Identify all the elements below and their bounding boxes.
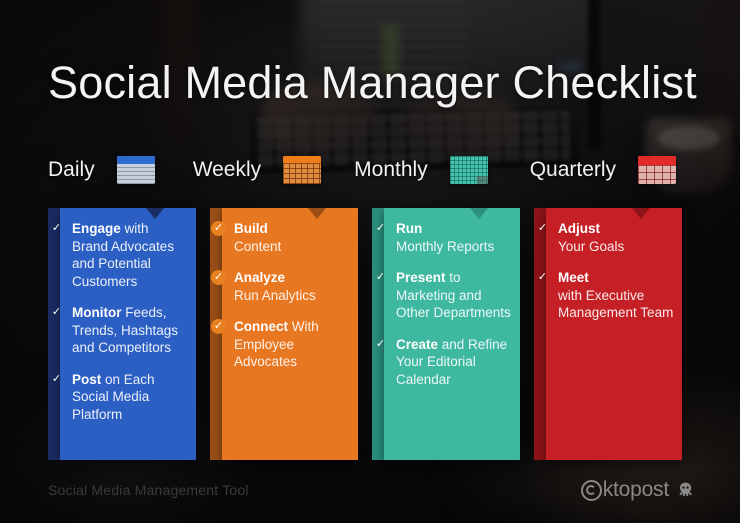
checklist-item-title: Adjust: [558, 220, 676, 238]
checklist-item-title-rest: Feeds,: [122, 305, 167, 320]
column-strip-quarterly: [534, 208, 546, 460]
logo-wordmark: ktopost: [581, 478, 669, 502]
check-icon: ✓: [211, 319, 226, 334]
checklist-item[interactable]: ✓BuildContent: [234, 220, 352, 255]
checklist-item-keyword: Run: [396, 221, 422, 236]
column-notch-weekly: [308, 208, 326, 219]
check-icon: ✓: [211, 270, 226, 285]
checklist-item-keyword: Post: [72, 372, 101, 387]
calendar-quarterly-icon: [638, 156, 676, 184]
checklist-column-weekly: ✓BuildContent✓AnalyzeRun Analytics✓Conne…: [210, 208, 358, 460]
column-body-daily: ✓Engage withBrand Advocates and Potentia…: [60, 208, 196, 460]
column-notch-monthly: [470, 208, 488, 219]
checklist-item-keyword: Connect: [234, 319, 288, 334]
column-items-monthly: ✓RunMonthly Reports✓Present toMarketing …: [396, 220, 514, 402]
checklist-item[interactable]: ✓Meetwith Executive Management Team: [558, 269, 676, 322]
legend-item-monthly: Monthly: [354, 156, 488, 184]
oktopost-logo[interactable]: ktopost: [581, 478, 695, 502]
checklist-item-keyword: Meet: [558, 270, 589, 285]
checklist-item[interactable]: ✓Monitor Feeds,Trends, Hashtags and Comp…: [72, 304, 190, 357]
frequency-legend: DailyWeeklyMonthlyQuarterly: [48, 152, 676, 188]
checklist-item-title: Analyze: [234, 269, 352, 287]
checklist-item-title: Engage with: [72, 220, 190, 238]
column-items-weekly: ✓BuildContent✓AnalyzeRun Analytics✓Conne…: [234, 220, 352, 385]
logo-spiral-o-icon: [581, 480, 602, 501]
legend-item-weekly: Weekly: [193, 156, 321, 184]
checklist-item-title-rest: with: [121, 221, 149, 236]
footer-tagline: Social Media Management Tool: [48, 482, 249, 498]
checklist-item-detail: with Executive Management Team: [558, 287, 676, 322]
calendar-daily-icon: [117, 156, 155, 184]
legend-item-quarterly: Quarterly: [530, 156, 676, 184]
checklist-item-detail: Marketing and Other Departments: [396, 287, 514, 322]
calendar-monthly-icon: [450, 156, 488, 184]
check-icon: ✓: [49, 221, 64, 236]
checklist-item-title-rest: and Refine: [438, 337, 507, 352]
checklist-item-title: Meet: [558, 269, 676, 287]
checklist-item[interactable]: ✓AnalyzeRun Analytics: [234, 269, 352, 304]
check-icon: ✓: [535, 221, 550, 236]
column-strip-monthly: [372, 208, 384, 460]
checklist-item[interactable]: ✓RunMonthly Reports: [396, 220, 514, 255]
checklist-item[interactable]: ✓Engage withBrand Advocates and Potentia…: [72, 220, 190, 290]
checklist-column-daily: ✓Engage withBrand Advocates and Potentia…: [48, 208, 196, 460]
column-body-monthly: ✓RunMonthly Reports✓Present toMarketing …: [384, 208, 520, 460]
check-icon: ✓: [373, 337, 388, 352]
check-icon: ✓: [373, 221, 388, 236]
column-items-daily: ✓Engage withBrand Advocates and Potentia…: [72, 220, 190, 437]
column-items-quarterly: ✓AdjustYour Goals✓Meetwith Executive Man…: [558, 220, 676, 336]
check-icon: ✓: [535, 270, 550, 285]
column-body-quarterly: ✓AdjustYour Goals✓Meetwith Executive Man…: [546, 208, 682, 460]
column-strip-weekly: [210, 208, 222, 460]
checklist-item-title: Run: [396, 220, 514, 238]
checklist-item[interactable]: ✓Create and RefineYour Editorial Calenda…: [396, 336, 514, 389]
column-strip-daily: [48, 208, 60, 460]
check-icon: ✓: [49, 305, 64, 320]
checklist-item-keyword: Present: [396, 270, 446, 285]
checklist-item-detail: Employee Advocates: [234, 336, 352, 371]
legend-label-quarterly: Quarterly: [530, 158, 616, 182]
checklist-item-title: Connect With: [234, 318, 352, 336]
checklist-item-detail: Brand Advocates and Potential Customers: [72, 238, 190, 291]
checklist-column-quarterly: ✓AdjustYour Goals✓Meetwith Executive Man…: [534, 208, 682, 460]
checklist-item-detail: Monthly Reports: [396, 238, 514, 256]
checklist-item-keyword: Create: [396, 337, 438, 352]
column-notch-daily: [146, 208, 164, 219]
checklist-item-title: Present to: [396, 269, 514, 287]
check-icon: ✓: [49, 372, 64, 387]
checklist-item-title: Post on Each: [72, 371, 190, 389]
legend-label-monthly: Monthly: [354, 158, 428, 182]
checklist-item-detail: Your Editorial Calendar: [396, 353, 514, 388]
checklist-item-detail: Social Media Platform: [72, 388, 190, 423]
legend-label-daily: Daily: [48, 158, 95, 182]
checklist-item-title: Build: [234, 220, 352, 238]
checklist-item-keyword: Monitor: [72, 305, 122, 320]
checklist-item-title-rest: on Each: [101, 372, 154, 387]
column-body-weekly: ✓BuildContent✓AnalyzeRun Analytics✓Conne…: [222, 208, 358, 460]
infographic-canvas: Social Media Manager Checklist DailyWeek…: [0, 0, 740, 523]
checklist-item-title-rest: With: [288, 319, 319, 334]
checklist-item[interactable]: ✓AdjustYour Goals: [558, 220, 676, 255]
legend-item-daily: Daily: [48, 156, 155, 184]
checklist-item[interactable]: ✓Present toMarketing and Other Departmen…: [396, 269, 514, 322]
legend-label-weekly: Weekly: [193, 158, 261, 182]
checklist-item-keyword: Analyze: [234, 270, 285, 285]
checklist-item-detail: Content: [234, 238, 352, 256]
checklist-item[interactable]: ✓Connect WithEmployee Advocates: [234, 318, 352, 371]
checklist-item[interactable]: ✓Post on EachSocial Media Platform: [72, 371, 190, 424]
checklist-item-detail: Your Goals: [558, 238, 676, 256]
checklist-item-detail: Trends, Hashtags and Competitors: [72, 322, 190, 357]
checklist-item-title: Monitor Feeds,: [72, 304, 190, 322]
checklist-item-keyword: Engage: [72, 221, 121, 236]
page-title: Social Media Manager Checklist: [48, 57, 708, 109]
checklist-columns: ✓Engage withBrand Advocates and Potentia…: [0, 208, 740, 463]
checklist-item-title: Create and Refine: [396, 336, 514, 354]
checklist-column-monthly: ✓RunMonthly Reports✓Present toMarketing …: [372, 208, 520, 460]
octopus-mark-icon: [676, 481, 695, 500]
calendar-weekly-icon: [283, 156, 321, 184]
check-icon: ✓: [211, 221, 226, 236]
checklist-item-keyword: Adjust: [558, 221, 600, 236]
logo-text-rest: ktopost: [603, 478, 669, 502]
column-notch-quarterly: [632, 208, 650, 219]
checklist-item-detail: Run Analytics: [234, 287, 352, 305]
checklist-item-keyword: Build: [234, 221, 268, 236]
check-icon: ✓: [373, 270, 388, 285]
checklist-item-title-rest: to: [446, 270, 461, 285]
